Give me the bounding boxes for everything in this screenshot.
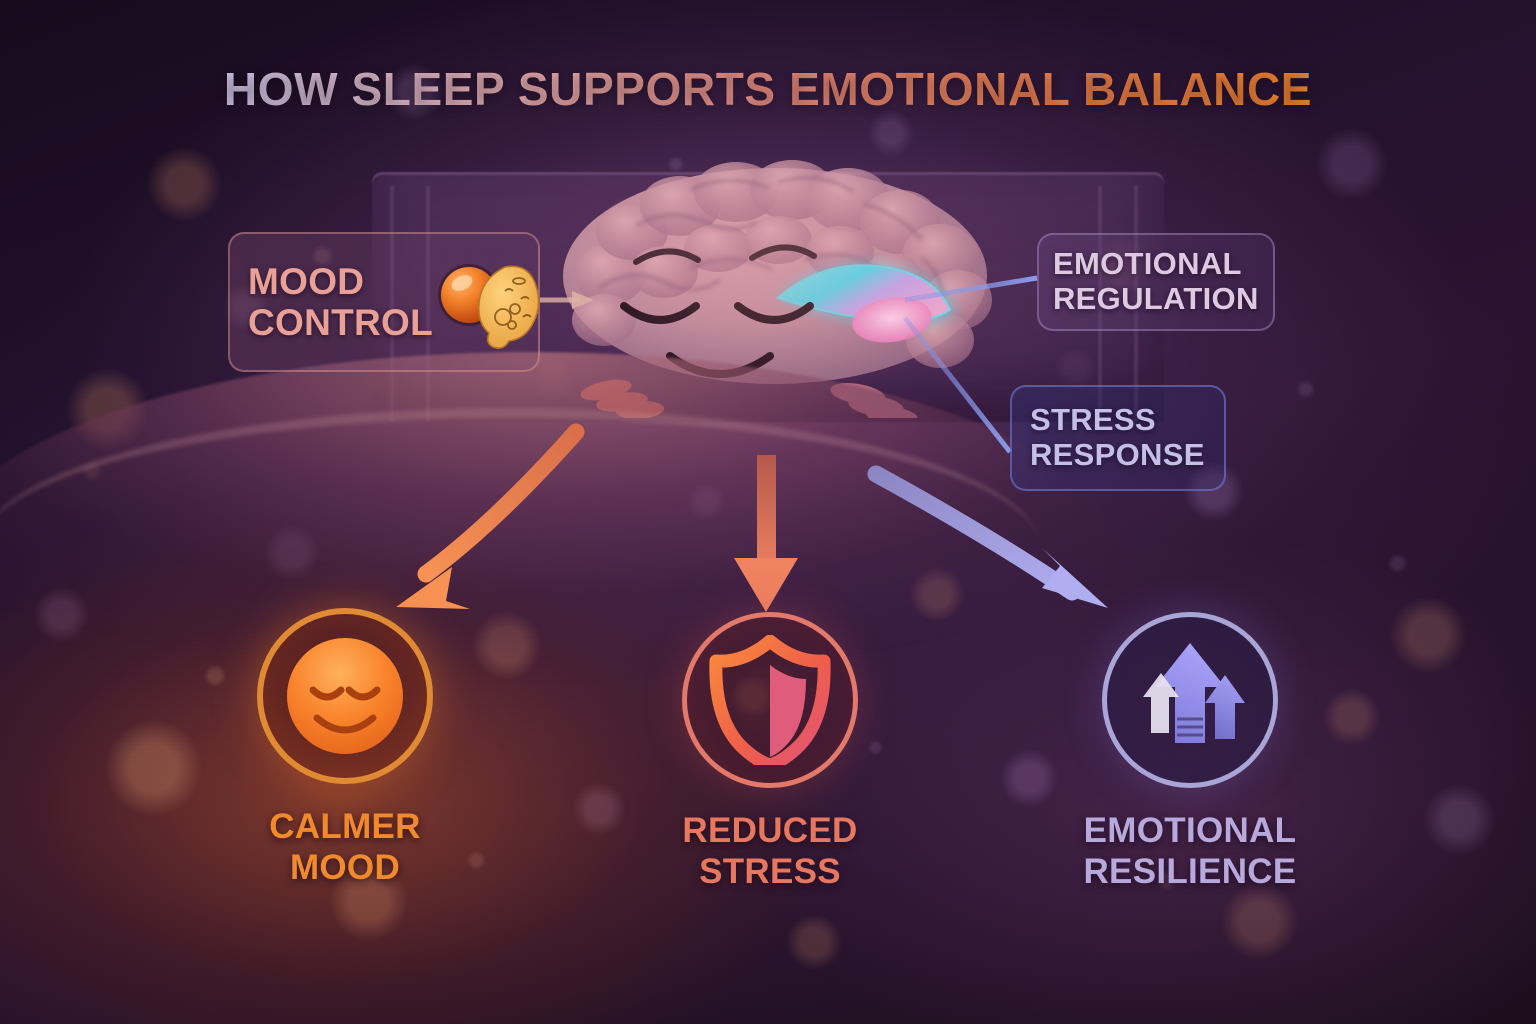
- outcome-reduced-stress-label: REDUCED STRESS: [620, 810, 920, 893]
- infographic-canvas: HOW SLEEP SUPPORTS EMOTIONAL BALANCE: [0, 0, 1536, 1024]
- reduced-stress-circle: [682, 612, 858, 788]
- outcome-calmer-mood-label: CALMER MOOD: [195, 806, 495, 889]
- outcome-calmer-mood[interactable]: CALMER MOOD: [195, 608, 495, 889]
- upward-arrows-icon: [1125, 635, 1255, 765]
- outcome-emotional-resilience-label: EMOTIONAL RESILIENCE: [1040, 810, 1340, 893]
- callout-emotional-regulation-label: EMOTIONAL REGULATION: [1053, 247, 1259, 316]
- emotional-resilience-circle: [1102, 612, 1278, 788]
- callout-emotional-regulation[interactable]: EMOTIONAL REGULATION: [1037, 233, 1275, 331]
- outcome-emotional-resilience[interactable]: EMOTIONAL RESILIENCE: [1040, 612, 1340, 893]
- calmer-mood-circle: [257, 608, 433, 784]
- mood-control-icons: [433, 255, 545, 349]
- callout-stress-response-label: STRESS RESPONSE: [1030, 403, 1205, 472]
- outcome-reduced-stress[interactable]: REDUCED STRESS: [620, 612, 920, 893]
- callout-mood-control[interactable]: MOOD CONTROL: [228, 232, 540, 372]
- callout-mood-control-label: MOOD CONTROL: [248, 261, 433, 344]
- shield-icon: [708, 635, 832, 765]
- page-title: HOW SLEEP SUPPORTS EMOTIONAL BALANCE: [0, 62, 1536, 116]
- callout-stress-response[interactable]: STRESS RESPONSE: [1010, 385, 1226, 491]
- calm-face-icon: [275, 626, 415, 766]
